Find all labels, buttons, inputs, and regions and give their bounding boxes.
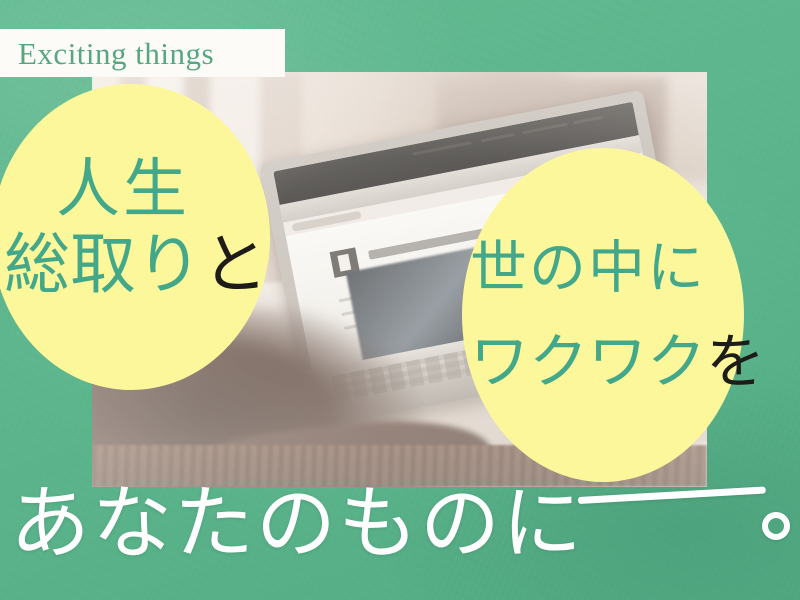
headline-left-line2: 総取りと	[4, 232, 268, 298]
headline-right-line2-green: ワクワク	[470, 327, 706, 396]
headline-left-line2-dark: と	[202, 226, 268, 303]
headline-right-line2: ワクワクを	[470, 332, 765, 391]
headline-left-line1: 人生	[56, 158, 190, 222]
eyebrow-label: Exciting things	[0, 29, 285, 77]
eyebrow-label-text: Exciting things	[0, 38, 214, 69]
bottom-headline: あなたのものに	[10, 484, 584, 564]
headline-right-line1: 世の中に	[470, 240, 706, 297]
bottom-period-mark	[762, 512, 790, 540]
yellow-circle-right	[462, 148, 744, 482]
banner-canvas: Exciting things 人生 総取りと 世の中に ワクワクを あなたのも…	[0, 0, 800, 600]
headline-right-line2-dark: を	[706, 327, 765, 396]
headline-left-line2-green: 総取り	[4, 226, 202, 303]
